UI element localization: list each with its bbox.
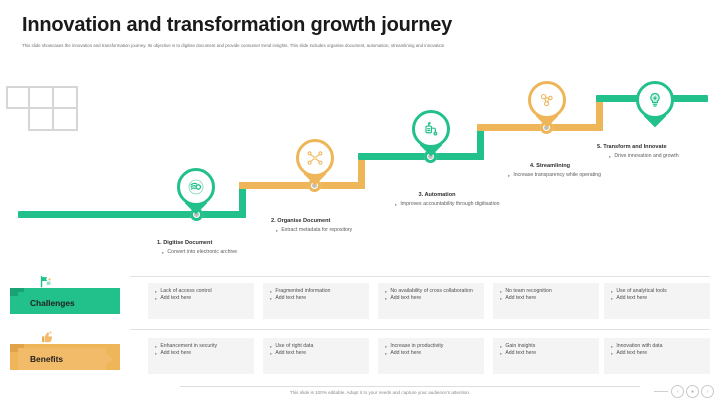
next-button[interactable]: ›	[701, 385, 714, 398]
cell-bullet: ▸Enhancement in security	[155, 343, 248, 350]
challenges-tag[interactable]: Challenges	[10, 288, 120, 314]
tag-label: Challenges	[18, 292, 106, 314]
bullet-marker: ▸	[155, 288, 157, 295]
cell-bullet: ▸Increase in productivity	[385, 343, 478, 350]
step-title: 2. Organise Document	[271, 218, 383, 224]
cell-bullet: ▸Use of right data	[270, 343, 363, 350]
step-bullet: ▸Improves accountability through digitis…	[395, 201, 502, 208]
bullet-marker: ▸	[609, 153, 611, 160]
fingerprint-scan-icon	[177, 168, 215, 206]
challenge-flag-icon	[38, 274, 54, 293]
cell-bullet: ▸Add text here	[500, 350, 593, 357]
cell-bullet: ▸Add text here	[500, 295, 593, 302]
challenges-cell-1: ▸Lack of access control ▸Add text here	[148, 283, 254, 319]
cell-bullet: ▸Add text here	[270, 350, 363, 357]
benefits-tag[interactable]: Benefits	[10, 344, 120, 370]
lightbulb-icon	[636, 81, 674, 119]
page-title: Innovation and transformation growth jou…	[22, 14, 452, 37]
bullet-marker: ▸	[276, 227, 278, 234]
cell-bullet: ▸Lack of access control	[155, 288, 248, 295]
controls-line	[654, 391, 668, 392]
bullet-marker: ▸	[500, 288, 502, 295]
step-text-5: 5. Transform and Innovate ▸Drive innovat…	[597, 144, 709, 160]
step-pin-5[interactable]	[636, 81, 674, 129]
divider-middle	[130, 329, 710, 330]
tag-arrow	[106, 353, 113, 365]
step-title: 4. Streamlining	[503, 163, 615, 169]
bullet-marker: ▸	[508, 172, 510, 179]
footer-note: This slide is 100% editable. Adapt it to…	[180, 390, 580, 395]
bullet-marker: ▸	[385, 343, 387, 350]
cell-bullet: ▸Add text here	[155, 295, 248, 302]
bullet-marker: ▸	[270, 288, 272, 295]
bullet-marker: ▸	[611, 288, 613, 295]
prev-button[interactable]: ‹	[671, 385, 684, 398]
step-title: 3. Automation	[390, 192, 502, 198]
cell-bullet: ▸No availability of cross collaboration	[385, 288, 478, 295]
step-text-1: 1. Digitise Document ▸Convert into elect…	[157, 240, 269, 256]
cell-bullet: ▸Add text here	[385, 350, 478, 357]
cell-bullet: ▸Add text here	[611, 350, 704, 357]
step-bullet: ▸Extract metadata for repository	[276, 227, 383, 234]
bullet-marker: ▸	[270, 343, 272, 350]
tag-arrow	[106, 297, 113, 309]
benefits-cell-4: ▸Gain insights ▸Add text here	[493, 338, 599, 374]
page-subtitle: This slide showcases the innovation and …	[22, 42, 692, 49]
benefits-cell-1: ▸Enhancement in security ▸Add text here	[148, 338, 254, 374]
step-text-4: 4. Streamlining ▸Increase transparency w…	[503, 163, 615, 179]
step-pin-2[interactable]	[296, 139, 334, 187]
bullet-marker: ▸	[611, 295, 613, 302]
challenges-cell-5: ▸Use of analytical tools ▸Add text here	[604, 283, 710, 319]
step-title: 5. Transform and Innovate	[597, 144, 709, 150]
cell-bullet: ▸Add text here	[270, 295, 363, 302]
bullet-marker: ▸	[155, 350, 157, 357]
bullet-marker: ▸	[385, 295, 387, 302]
benefits-cell-3: ▸Increase in productivity ▸Add text here	[378, 338, 484, 374]
play-button[interactable]: ●	[686, 385, 699, 398]
step-pin-4[interactable]	[528, 81, 566, 129]
bullet-marker: ▸	[162, 249, 164, 256]
step-text-2: 2. Organise Document ▸Extract metadata f…	[271, 218, 383, 234]
bullet-marker: ▸	[500, 350, 502, 357]
bullet-marker: ▸	[155, 343, 157, 350]
benefits-cell-2: ▸Use of right data ▸Add text here	[263, 338, 369, 374]
cell-bullet: ▸Add text here	[611, 295, 704, 302]
divider-top	[130, 276, 710, 277]
bullet-marker: ▸	[500, 343, 502, 350]
step-text-3: 3. Automation ▸Improves accountability t…	[390, 192, 502, 208]
slide-canvas: Innovation and transformation growth jou…	[0, 0, 720, 404]
challenges-cell-3: ▸No availability of cross collaboration …	[378, 283, 484, 319]
step-pin-3[interactable]	[412, 110, 450, 158]
bullet-marker: ▸	[385, 350, 387, 357]
robot-automation-icon	[412, 110, 450, 148]
gears-flow-icon	[528, 81, 566, 119]
cell-bullet: ▸Use of analytical tools	[611, 288, 704, 295]
challenges-cell-4: ▸No team recognition ▸Add text here	[493, 283, 599, 319]
challenges-cell-2: ▸Fragmented information ▸Add text here	[263, 283, 369, 319]
benefits-cell-5: ▸Innovation with data ▸Add text here	[604, 338, 710, 374]
cell-bullet: ▸Add text here	[385, 295, 478, 302]
bullet-marker: ▸	[385, 288, 387, 295]
step-title: 1. Digitise Document	[157, 240, 269, 246]
network-nodes-icon	[296, 139, 334, 177]
cell-bullet: ▸No team recognition	[500, 288, 593, 295]
cell-bullet: ▸Gain insights	[500, 343, 593, 350]
bullet-marker: ▸	[611, 350, 613, 357]
step-bullet: ▸Drive innovation and growth	[609, 153, 709, 160]
bullet-marker: ▸	[611, 343, 613, 350]
slide-controls[interactable]: ‹ ● ›	[654, 385, 714, 398]
step-bullet: ▸Increase transparency while operating	[508, 172, 615, 179]
cell-bullet: ▸Innovation with data	[611, 343, 704, 350]
step-pin-1[interactable]	[177, 168, 215, 216]
bullet-marker: ▸	[270, 295, 272, 302]
cell-bullet: ▸Add text here	[155, 350, 248, 357]
bullet-marker: ▸	[500, 295, 502, 302]
thumbs-up-icon	[38, 330, 54, 349]
bullet-marker: ▸	[395, 201, 397, 208]
tag-label: Benefits	[18, 348, 106, 370]
bullet-marker: ▸	[155, 295, 157, 302]
step-bullet: ▸Convert into electronic archive	[162, 249, 269, 256]
footer-divider	[180, 386, 640, 387]
bullet-marker: ▸	[270, 350, 272, 357]
cell-bullet: ▸Fragmented information	[270, 288, 363, 295]
